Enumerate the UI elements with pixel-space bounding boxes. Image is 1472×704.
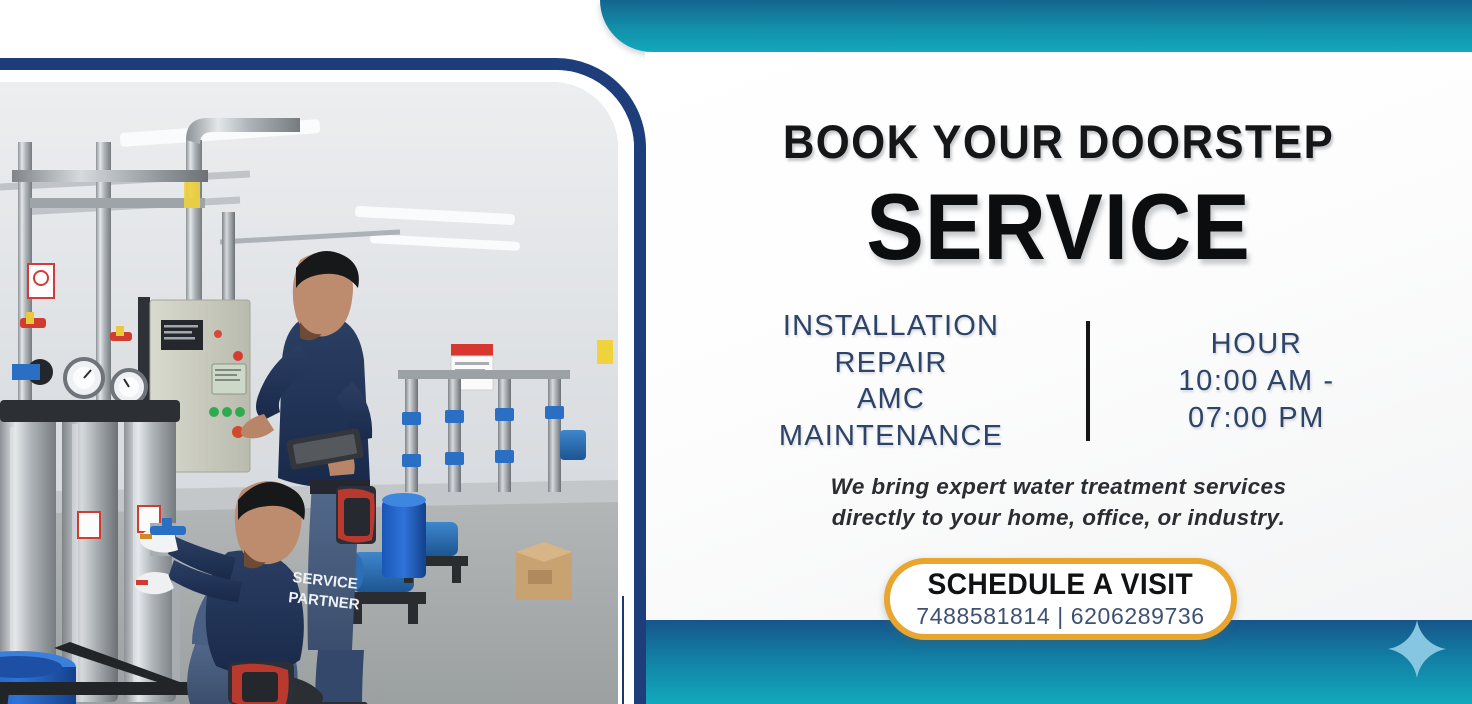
top-teal-band <box>600 0 1472 52</box>
heading-line-1: BOOK YOUR DOORSTEP <box>674 114 1443 169</box>
hours-label: HOUR <box>1132 326 1382 363</box>
hours-line-2: 07:00 PM <box>1132 400 1382 437</box>
tagline: We bring expert water treatment services… <box>645 471 1472 533</box>
hours-block: HOUR 10:00 AM - 07:00 PM <box>1132 326 1382 437</box>
cta-title: SCHEDULE A VISIT <box>928 568 1194 602</box>
info-row: INSTALLATION REPAIR AMC MAINTENANCE HOUR… <box>700 306 1420 456</box>
service-item-maintenance: MAINTENANCE <box>739 418 1044 455</box>
schedule-visit-button[interactable]: SCHEDULE A VISIT 7488581814 | 6206289736 <box>884 558 1237 640</box>
vertical-divider <box>1086 321 1090 441</box>
heading-line-2: SERVICE <box>678 178 1439 277</box>
service-item-amc: AMC <box>739 381 1044 418</box>
sparkle-icon <box>1386 618 1448 680</box>
hero-photo: SERVICE PARTNER <box>0 82 618 704</box>
tagline-line-2: directly to your home, office, or indust… <box>645 502 1472 533</box>
service-item-repair: REPAIR <box>739 345 1044 382</box>
promotional-banner: SERVICE PARTNER <box>0 0 1472 704</box>
tagline-line-1: We bring expert water treatment services <box>645 471 1472 502</box>
hours-line-1: 10:00 AM - <box>1132 363 1382 400</box>
cta-phone-numbers[interactable]: 7488581814 | 6206289736 <box>916 603 1204 630</box>
services-list: INSTALLATION REPAIR AMC MAINTENANCE <box>739 308 1044 454</box>
service-item-installation: INSTALLATION <box>739 308 1044 345</box>
